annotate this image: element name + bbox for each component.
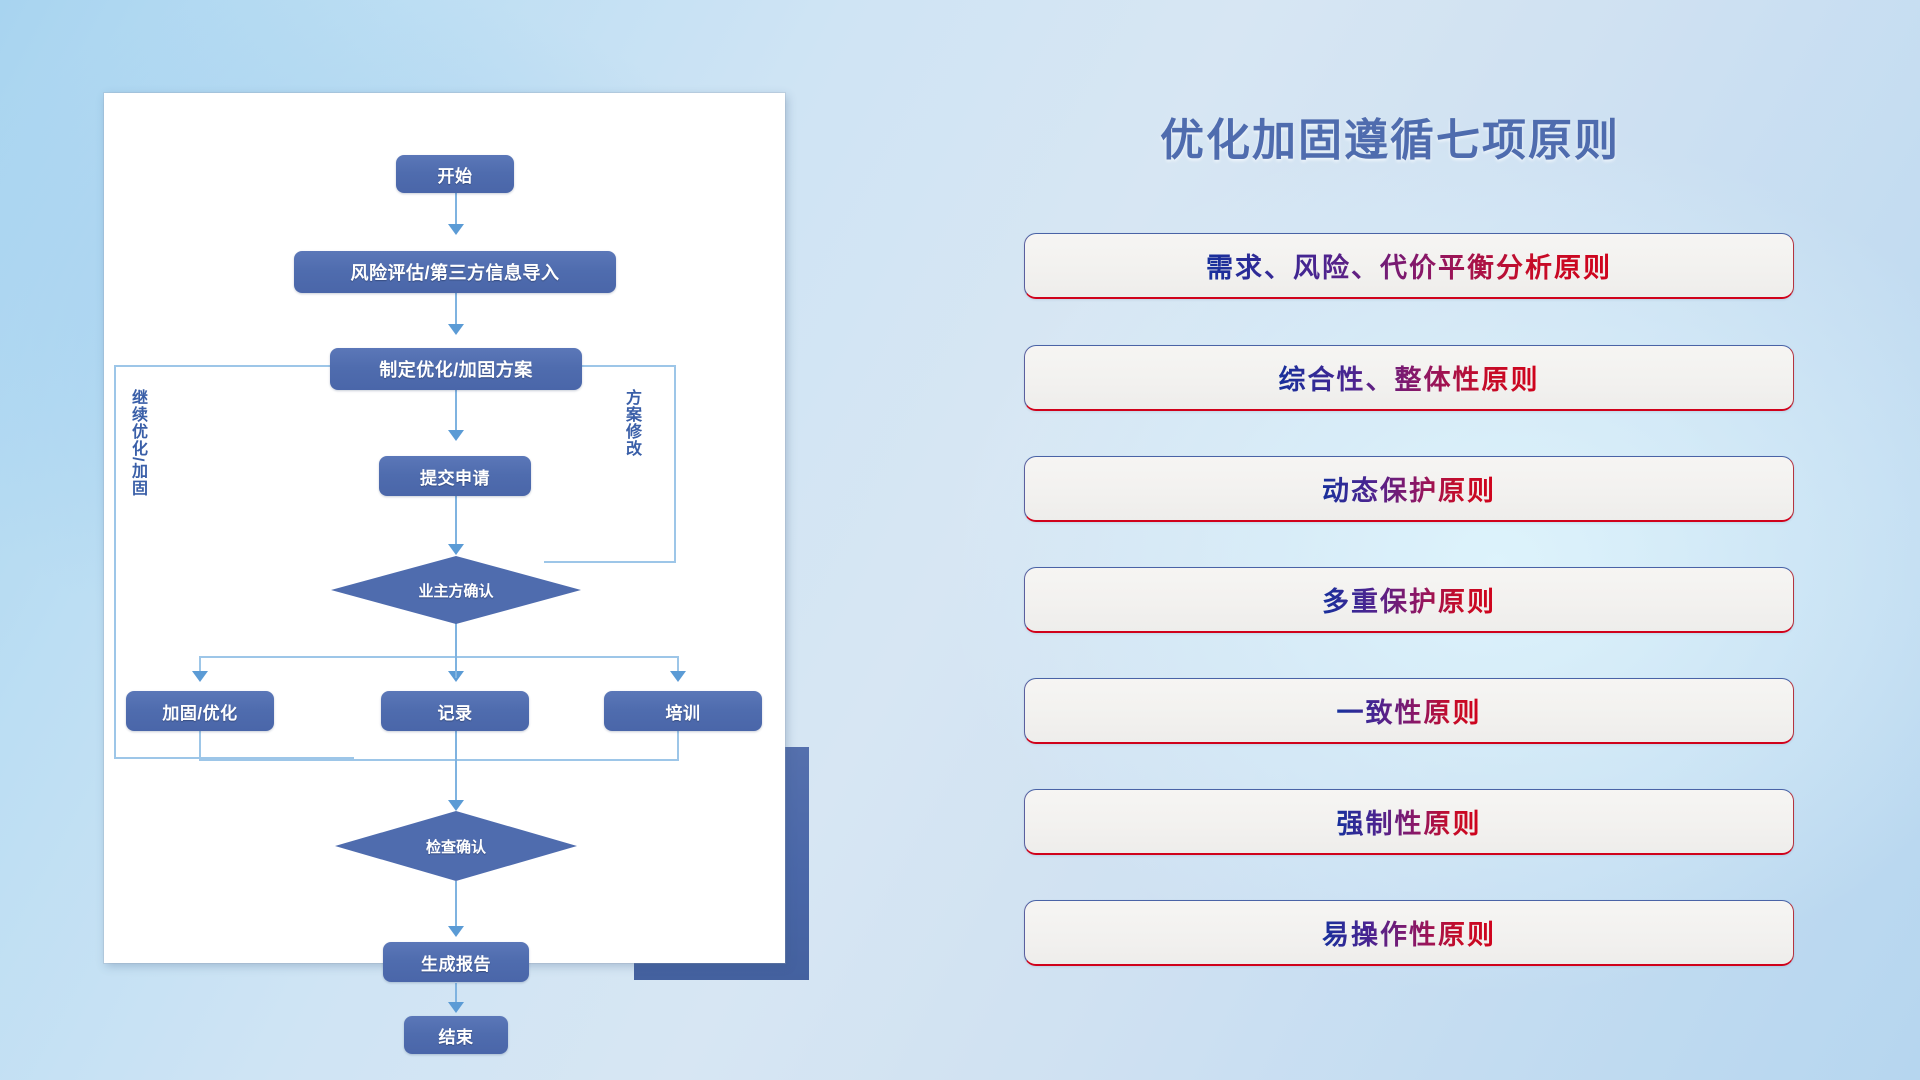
flow-node-owner-confirm-label: 业主方确认 <box>418 580 493 601</box>
arrow-to-reinforce <box>192 671 208 682</box>
flow-node-submit-application[interactable]: 提交申请 <box>379 456 531 496</box>
principle-item-6-label: 强制性原则 <box>1337 802 1482 841</box>
connector-reinforce-down <box>199 731 201 761</box>
principle-item-1-label: 需求、风险、代价平衡分析原则 <box>1206 246 1612 285</box>
flow-node-training[interactable]: 培训 <box>604 691 762 731</box>
connector-loop-right-vertical <box>674 365 676 563</box>
principle-item-4[interactable]: 多重保护原则 <box>1024 567 1794 633</box>
flow-node-reinforce-optimize-label: 加固/优化 <box>162 699 237 724</box>
principles-panel: 优化加固遵循七项原则 需求、风险、代价平衡分析原则 综合性、整体性原则 动态保护… <box>940 0 1920 1080</box>
principle-item-2[interactable]: 综合性、整体性原则 <box>1024 345 1794 411</box>
arrow-to-train <box>670 671 686 682</box>
connector-check-to-report <box>455 881 457 931</box>
flowchart-card: 开始 风险评估/第三方信息导入 制定优化/加固方案 提交申请 业主方确认 加固/… <box>104 93 785 963</box>
flowchart-panel: 开始 风险评估/第三方信息导入 制定优化/加固方案 提交申请 业主方确认 加固/… <box>0 0 940 1080</box>
flow-node-end[interactable]: 结束 <box>404 1016 508 1054</box>
connector-start-to-risk <box>455 189 457 229</box>
arrow-submit-to-owner <box>448 544 464 555</box>
flow-node-submit-application-label: 提交申请 <box>420 464 490 489</box>
arrow-report-to-end <box>448 1002 464 1013</box>
flow-node-generate-report-label: 生成报告 <box>421 950 491 975</box>
principle-item-4-label: 多重保护原则 <box>1322 580 1496 619</box>
flow-node-risk-assessment[interactable]: 风险评估/第三方信息导入 <box>294 251 616 293</box>
arrow-check-to-report <box>448 926 464 937</box>
principle-item-2-label: 综合性、整体性原则 <box>1279 358 1540 397</box>
flow-node-generate-report[interactable]: 生成报告 <box>383 942 529 982</box>
arrow-risk-to-plan <box>448 324 464 335</box>
connector-plan-to-submit <box>455 389 457 435</box>
connector-fanout-bus <box>199 656 679 658</box>
connector-submit-to-owner <box>455 495 457 549</box>
connector-loop-right-bottom <box>544 561 676 563</box>
flow-node-record[interactable]: 记录 <box>381 691 529 731</box>
connector-record-to-check <box>455 731 457 805</box>
flow-node-start[interactable]: 开始 <box>396 155 514 193</box>
arrow-merge-to-check <box>448 800 464 811</box>
flow-node-start-label: 开始 <box>438 162 473 187</box>
flow-node-check-confirm[interactable]: 检查确认 <box>335 811 577 881</box>
connector-merge-bus <box>199 759 679 761</box>
principle-item-7-label: 易操作性原则 <box>1322 913 1496 952</box>
principles-title: 优化加固遵循七项原则 <box>940 104 1840 168</box>
flow-node-make-plan-label: 制定优化/加固方案 <box>379 356 533 382</box>
principle-item-7[interactable]: 易操作性原则 <box>1024 900 1794 966</box>
arrow-start-to-risk <box>448 224 464 235</box>
connector-train-down <box>677 731 679 761</box>
principle-item-3[interactable]: 动态保护原则 <box>1024 456 1794 522</box>
edge-label-continue-optimize: 继续优化/加固 <box>128 389 145 549</box>
flow-node-check-confirm-label: 检查确认 <box>426 836 486 857</box>
flow-node-make-plan[interactable]: 制定优化/加固方案 <box>330 348 582 390</box>
principle-item-1[interactable]: 需求、风险、代价平衡分析原则 <box>1024 233 1794 299</box>
principle-item-5[interactable]: 一致性原则 <box>1024 678 1794 744</box>
connector-loop-right-top <box>574 365 676 367</box>
arrow-plan-to-submit <box>448 430 464 441</box>
flow-node-owner-confirm[interactable]: 业主方确认 <box>331 556 581 624</box>
principle-item-5-label: 一致性原则 <box>1337 691 1482 730</box>
flow-node-training-label: 培训 <box>666 699 701 724</box>
principle-item-3-label: 动态保护原则 <box>1322 469 1496 508</box>
edge-label-plan-revision: 方案修改 <box>622 389 639 493</box>
connector-owner-down <box>455 621 457 657</box>
connector-risk-to-plan <box>455 289 457 329</box>
flow-node-reinforce-optimize[interactable]: 加固/优化 <box>126 691 274 731</box>
flow-node-end-label: 结束 <box>439 1023 474 1048</box>
connector-loop-left-vertical <box>114 365 116 758</box>
flow-node-risk-assessment-label: 风险评估/第三方信息导入 <box>351 259 560 285</box>
principle-item-6[interactable]: 强制性原则 <box>1024 789 1794 855</box>
connector-owner-to-record <box>455 656 457 678</box>
flow-node-record-label: 记录 <box>438 699 473 724</box>
